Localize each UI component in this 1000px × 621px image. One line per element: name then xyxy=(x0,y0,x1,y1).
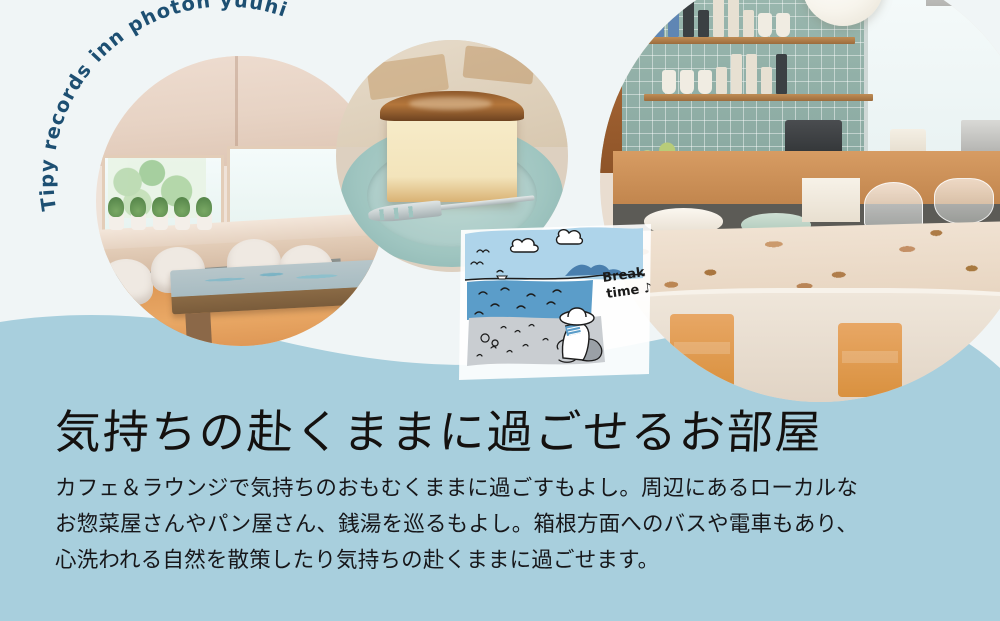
glass-tumbler xyxy=(761,67,772,94)
bottle xyxy=(683,0,694,37)
cafe-kitchen-counter-photo xyxy=(600,0,1000,402)
ceramic-cup xyxy=(662,70,676,94)
ceramic-cup xyxy=(680,70,694,94)
open-shelf-upper xyxy=(644,37,855,44)
bottle xyxy=(728,0,739,37)
paper-coffee-bag xyxy=(802,178,859,222)
cheesecake-slice xyxy=(387,112,517,202)
shelf-glassware-group xyxy=(662,54,787,94)
floor-chair xyxy=(99,259,153,305)
table-top-pattern xyxy=(191,264,359,290)
glass-tumbler xyxy=(746,54,757,94)
ceramic-cup xyxy=(698,70,712,94)
shelf-bottles-group xyxy=(653,0,790,37)
wood-post xyxy=(600,0,622,173)
wooden-bowl xyxy=(776,13,790,37)
wooden-bowl xyxy=(758,13,772,37)
wooden-stool xyxy=(838,323,902,397)
cafe-scene xyxy=(600,0,1000,402)
coffee-grinder xyxy=(776,54,787,94)
page-title: 気持ちの赴くままに過ごせるお部屋 xyxy=(54,396,825,462)
potted-plants-group xyxy=(105,204,227,230)
description-line: 心洗われる自然を散策したり気持ちの赴くままに過ごせます。 xyxy=(55,542,925,578)
bottle xyxy=(698,10,709,37)
potted-plant xyxy=(131,213,146,230)
potted-plant xyxy=(197,213,212,230)
seaside-break-illustration: Break time ♪ xyxy=(455,222,655,382)
range-hood xyxy=(926,0,1000,6)
potted-plant xyxy=(175,213,190,230)
wooden-stool xyxy=(670,314,734,388)
bottle xyxy=(713,0,724,37)
description-line: お惣菜屋さんやパン屋さん、銭湯を巡るもよし。箱根方面へのバスや電車もあり、 xyxy=(55,506,925,542)
potted-plant xyxy=(109,213,124,230)
fork-handle xyxy=(438,195,535,210)
description-line: カフェ＆ラウンジで気持ちのおもむくままに過ごすもよし。周辺にあるローカルな xyxy=(55,470,925,506)
glass-teapot xyxy=(934,178,993,224)
promo-page: Break time ♪ Tipy records inn photon yuu… xyxy=(0,0,1000,621)
bottle xyxy=(668,0,679,37)
bottle xyxy=(653,0,664,37)
glass-cloche xyxy=(864,182,923,228)
illustration-boat xyxy=(497,276,507,279)
counter-base xyxy=(600,288,1000,402)
page-description: カフェ＆ラウンジで気持ちのおもむくままに過ごすもよし。周辺にあるローカルな お惣… xyxy=(55,470,925,578)
potted-plant xyxy=(153,213,168,230)
glass-tumbler xyxy=(731,54,742,94)
open-shelf-lower xyxy=(644,94,873,101)
bottle xyxy=(743,10,754,37)
glass-tumbler xyxy=(716,67,727,94)
